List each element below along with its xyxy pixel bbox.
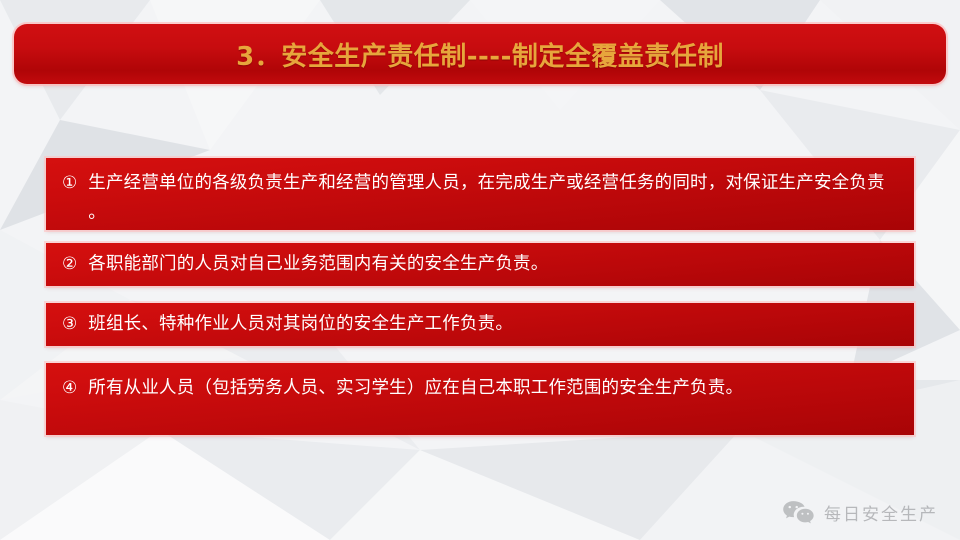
list-marker-3: ③ — [62, 313, 77, 336]
footer-watermark: 每日安全生产 — [781, 498, 938, 526]
list-marker-2: ② — [62, 253, 77, 276]
list-marker-4: ④ — [62, 373, 77, 403]
list-item-text-3: 班组长、特种作业人员对其岗位的安全生产工作负责。 — [88, 313, 900, 336]
content-bar-2: ② 各职能部门的人员对自己业务范围内有关的安全生产负责。 — [46, 243, 914, 286]
slide-canvas: 3．安全生产责任制----制定全覆盖责任制 ① 生产经营单位的各级负责生产和经营… — [0, 0, 960, 540]
content-bar-4: ④ 所有从业人员（包括劳务人员、实习学生）应在自己本职工作范围的安全生产负责。 — [46, 363, 914, 435]
title-banner: 3．安全生产责任制----制定全覆盖责任制 — [14, 24, 946, 84]
page-title: 3．安全生产责任制----制定全覆盖责任制 — [236, 36, 724, 73]
content-bar-3: ③ 班组长、特种作业人员对其岗位的安全生产工作负责。 — [46, 303, 914, 346]
watermark-label: 每日安全生产 — [824, 500, 938, 525]
content-bar-1: ① 生产经营单位的各级负责生产和经营的管理人员，在完成生产或经营任务的同时，对保… — [46, 158, 914, 230]
list-marker-1: ① — [62, 168, 77, 198]
list-item-text-4: 所有从业人员（包括劳务人员、实习学生）应在自己本职工作范围的安全生产负责。 — [88, 373, 900, 403]
list-item-text-1: 生产经营单位的各级负责生产和经营的管理人员，在完成生产或经营任务的同时，对保证生… — [88, 168, 900, 228]
list-item-text-2: 各职能部门的人员对自己业务范围内有关的安全生产负责。 — [88, 253, 900, 276]
wechat-icon — [781, 498, 815, 526]
